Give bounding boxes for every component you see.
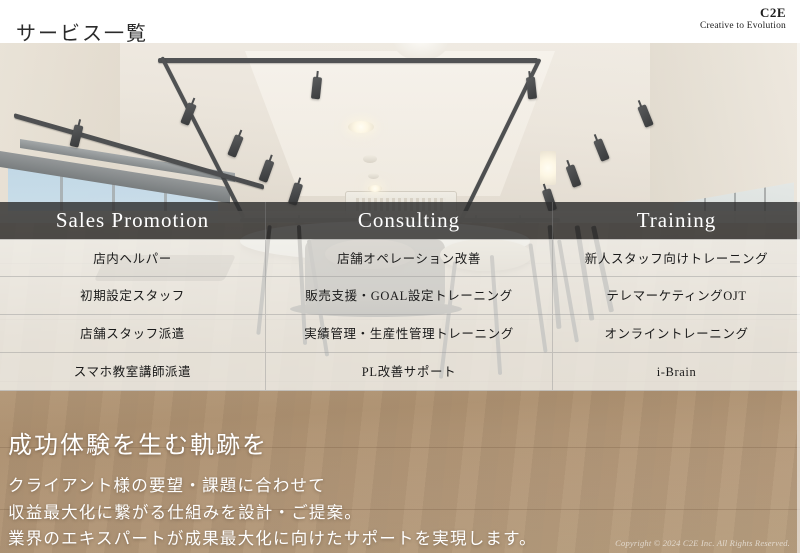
service-cell: オンライントレーニング [553, 315, 800, 353]
service-cell: 店舗オペレーション改善 [266, 239, 553, 277]
brand-tagline: Creative to Evolution [700, 21, 786, 33]
table-header-row: Sales Promotion Consulting Training [0, 202, 800, 239]
service-cell: 販売支援・GOAL設定トレーニング [266, 277, 553, 315]
service-cell: 実績管理・生産性管理トレーニング [266, 315, 553, 353]
service-cell: 店舗スタッフ派遣 [0, 315, 266, 353]
service-table-body: 店内ヘルパー 店舗オペレーション改善 新人スタッフ向けトレーニング 初期設定スタ… [0, 239, 800, 391]
service-cell: 店内ヘルパー [0, 239, 266, 277]
service-table: Sales Promotion Consulting Training 店内ヘル… [0, 202, 800, 391]
column-header-training: Training [553, 202, 800, 239]
service-cell: スマホ教室講師派遣 [0, 353, 266, 391]
description-line-1: クライアント様の要望・課題に合わせて [8, 473, 537, 500]
brand-name: C2E [700, 5, 786, 21]
service-table-header: Sales Promotion Consulting Training [0, 202, 800, 239]
service-cell: i-Brain [553, 353, 800, 391]
description-line-2: 収益最大化に繋がる仕組みを設計・ご提案。 [8, 500, 537, 527]
column-header-consulting: Consulting [266, 202, 553, 239]
service-cell: テレマーケティングOJT [553, 277, 800, 315]
table-row: 初期設定スタッフ 販売支援・GOAL設定トレーニング テレマーケティングOJT [0, 277, 800, 315]
table-row: 店舗スタッフ派遣 実績管理・生産性管理トレーニング オンライントレーニング [0, 315, 800, 353]
service-cell: 新人スタッフ向けトレーニング [553, 239, 800, 277]
copyright-notice: Copyright © 2024 C2E Inc. All Rights Res… [615, 538, 790, 548]
description-line-3: 業界のエキスパートが成果最大化に向けたサポートを実現します。 [8, 526, 537, 553]
slide: サービス一覧 C2E Creative to Evolution Sales P… [0, 0, 800, 553]
table-row: スマホ教室講師派遣 PL改善サポート i-Brain [0, 353, 800, 391]
top-header-bar: サービス一覧 C2E Creative to Evolution [0, 0, 800, 43]
table-row: 店内ヘルパー 店舗オペレーション改善 新人スタッフ向けトレーニング [0, 239, 800, 277]
column-header-sales-promotion: Sales Promotion [0, 202, 266, 239]
page-title: サービス一覧 [16, 17, 148, 46]
section-headline: 成功体験を生む軌跡を [8, 425, 268, 460]
service-cell: PL改善サポート [266, 353, 553, 391]
section-description: クライアント様の要望・課題に合わせて 収益最大化に繋がる仕組みを設計・ご提案。 … [8, 473, 537, 553]
brand-logo: C2E Creative to Evolution [700, 5, 786, 33]
service-cell: 初期設定スタッフ [0, 277, 266, 315]
